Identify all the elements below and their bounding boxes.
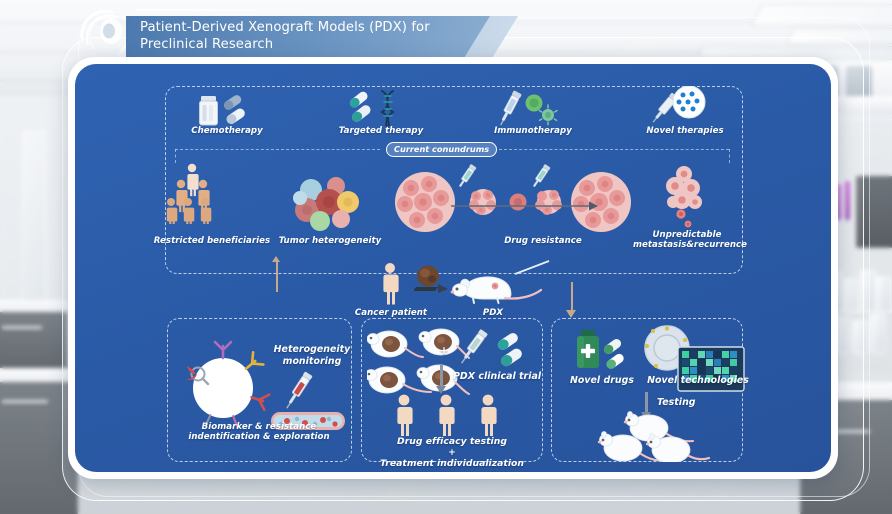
badge-connector-left <box>175 149 380 150</box>
three-white-mice-icon <box>597 410 713 466</box>
biomarker-caption-line-1: Biomarker & resistance <box>202 422 317 432</box>
trial-caption-line-1: Drug efficacy testing <box>397 436 507 447</box>
white-laboratory-mouse-icon <box>449 260 553 310</box>
therapy-label-novel-therapies: Novel therapies <box>625 126 745 136</box>
therapy-label-chemotherapy: Chemotherapy <box>167 126 287 136</box>
main-infographic-panel: Chemotherapy Targ <box>75 64 831 472</box>
therapy-label-targeted-therapy: Targeted therapy <box>321 126 441 136</box>
therapy-label-immunotherapy: Immunotherapy <box>473 126 593 136</box>
three-human-figures-icon <box>385 394 513 442</box>
bridge-down-arrow-line <box>571 282 573 312</box>
page-title-line-1: Patient-Derived Xenograft Models (PDX) f… <box>140 20 480 37</box>
microarray-plate-icon <box>677 346 745 396</box>
heterogeneity-monitoring-label: Heterogeneity monitoring <box>271 344 353 367</box>
heterogeneity-label-line-1: Heterogeneity <box>274 344 351 355</box>
bridge-up-arrow-line <box>276 262 278 292</box>
page-title-line-2: Preclinical Research <box>140 37 480 54</box>
tumor-shrink-regrow-sequence-icon <box>393 162 633 244</box>
infographic-stage: Patient-Derived Xenograft Models (PDX) f… <box>0 0 892 514</box>
biomarker-caption-line-2: indentification & exploration <box>188 432 329 442</box>
badge-drop-left <box>175 149 176 163</box>
conundrum-label-restricted-beneficiaries: Restricted beneficiaries <box>147 236 277 246</box>
novel-drugs-label: Novel drugs <box>559 376 645 386</box>
bridge-down-arrow-head <box>566 310 576 318</box>
metastasis-label-line-2: metastasis&recurrence <box>633 240 747 250</box>
human-figure-icon <box>375 262 405 310</box>
heterogeneity-label-line-2: monitoring <box>283 356 342 367</box>
clinical-trial-plus-symbol: + <box>437 346 451 356</box>
metastasizing-tumor-icon <box>657 164 715 240</box>
badge-connector-right <box>499 149 729 150</box>
novel-technologies-label: Novel technologies <box>645 376 751 386</box>
title-banner: Patient-Derived Xenograft Models (PDX) f… <box>126 16 518 58</box>
testing-label: Testing <box>657 398 717 408</box>
green-medicine-bottle-icon <box>569 328 633 382</box>
group-of-people-icon <box>163 162 221 228</box>
bridge-label-pdx: PDX <box>463 308 523 318</box>
trial-caption-line-2: Treatment individualization <box>380 458 524 469</box>
clinical-trial-panel-caption: Drug efficacy testing + Treatment indivi… <box>367 436 537 469</box>
bridge-up-arrow-head <box>272 256 280 262</box>
title-top-rule <box>136 9 312 11</box>
pdx-clinical-trial-label: PDX clinical trial <box>453 372 551 382</box>
page-title: Patient-Derived Xenograft Models (PDX) f… <box>140 20 480 53</box>
clinical-trial-arrow-line <box>440 364 443 388</box>
clinical-trial-arrow-head <box>436 386 446 394</box>
antibody-bound-cell-icon <box>179 340 275 434</box>
badge-drop-right <box>729 149 730 163</box>
tumor-tissue-sample-icon <box>414 264 448 298</box>
metastasis-label-line-1: Unpredictable <box>653 230 722 240</box>
biomarker-panel-caption: Biomarker & resistance indentification &… <box>171 422 347 443</box>
conundrum-label-tumor-heterogeneity: Tumor heterogeneity <box>271 236 389 246</box>
trial-caption-plus: + <box>448 447 456 458</box>
conundrum-label-drug-resistance: Drug resistance <box>495 236 591 246</box>
current-conundrums-badge: Current conundrums <box>386 142 497 157</box>
multicolored-cell-cluster-icon <box>291 174 363 238</box>
bridge-label-cancer-patient: Cancer patient <box>351 308 431 318</box>
conundrum-label-metastasis-recurrence: Unpredictable metastasis&recurrence <box>633 230 741 251</box>
